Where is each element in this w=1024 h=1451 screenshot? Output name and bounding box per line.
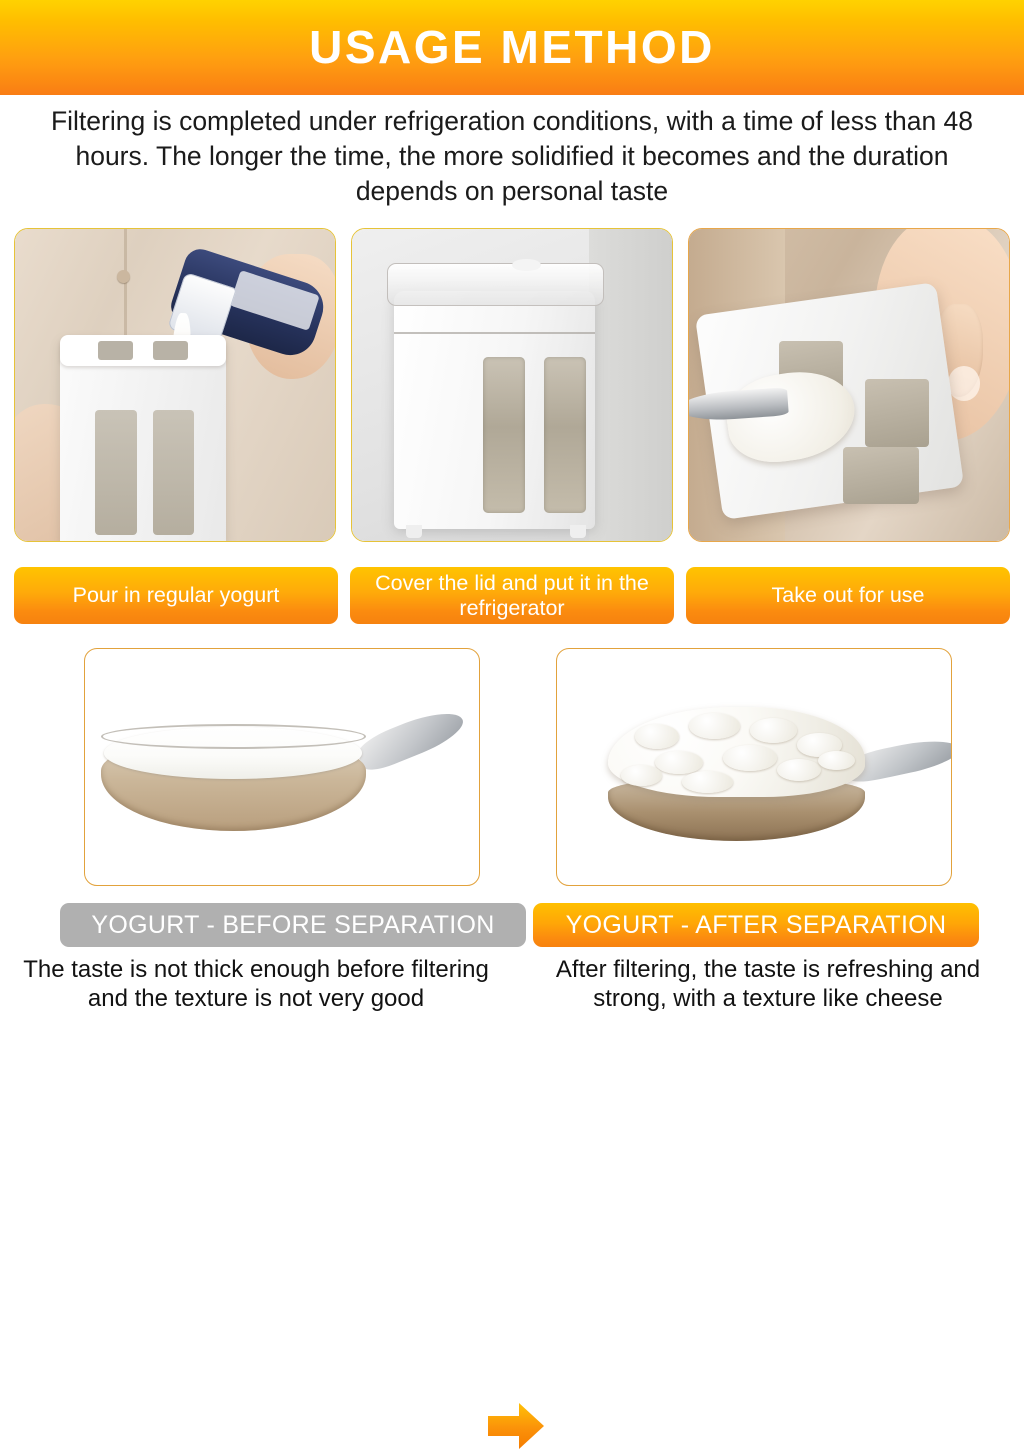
transition-arrow-icon [486, 1401, 546, 1451]
comparison-row [0, 648, 1024, 888]
thick-yogurt-spoon-illustration [581, 701, 920, 847]
step-caption-2: Cover the lid and put it in the refriger… [350, 567, 674, 624]
comparison-panel-after [556, 648, 952, 886]
header-banner: USAGE METHOD [0, 0, 1024, 95]
step-photo-1 [14, 228, 336, 542]
step-photo-3 [688, 228, 1010, 542]
step-caption-row: Pour in regular yogurt Cover the lid and… [14, 567, 1010, 624]
runny-yogurt-spoon-illustration [101, 720, 424, 833]
step-caption-1: Pour in regular yogurt [14, 567, 338, 624]
description-before: The taste is not thick enough before fil… [0, 955, 512, 1021]
page-title: USAGE METHOD [309, 24, 715, 70]
badge-before-separation: YOGURT - BEFORE SEPARATION [60, 903, 526, 947]
intro-paragraph: Filtering is completed under refrigerati… [24, 104, 1000, 210]
badge-after-separation: YOGURT - AFTER SEPARATION [533, 903, 979, 947]
container-in-fridge-illustration [352, 229, 672, 541]
take-out-basket-illustration [689, 229, 1009, 541]
pour-yogurt-illustration [15, 229, 335, 541]
comparison-badge-row: YOGURT - BEFORE SEPARATION YOGURT - AFTE… [0, 903, 1024, 947]
step-photo-row [14, 228, 1010, 542]
step-caption-3: Take out for use [686, 567, 1010, 624]
step-photo-2 [351, 228, 673, 542]
description-after: After filtering, the taste is refreshing… [512, 955, 1024, 1021]
comparison-panel-before [84, 648, 480, 886]
comparison-description-row: The taste is not thick enough before fil… [0, 955, 1024, 1021]
